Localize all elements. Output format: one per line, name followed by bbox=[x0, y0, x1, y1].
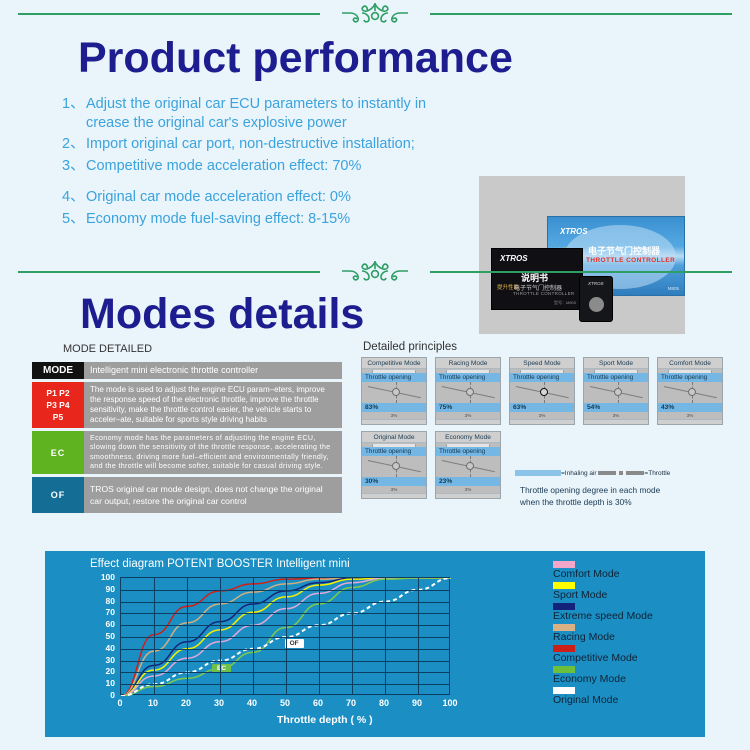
list-item-number: 3、 bbox=[62, 157, 86, 176]
legend-swatch bbox=[553, 624, 575, 631]
card-band-label: Throttle opening bbox=[658, 373, 722, 382]
chart-plot-area: EC OF bbox=[120, 577, 450, 695]
principle-card-original: Original Mode Throttle opening 30% 3% bbox=[361, 431, 427, 499]
legend-swatch-throttle bbox=[598, 471, 644, 475]
legend-swatch-inhaling-air bbox=[515, 470, 561, 476]
chart-x-tick: 50 bbox=[280, 698, 290, 708]
legend-item: Racing Mode bbox=[553, 624, 653, 643]
card-valve-diagram bbox=[436, 456, 500, 477]
list-item-text: Economy mode fuel-saving effect: 8-15% bbox=[86, 210, 350, 229]
principle-card-row: Competitive Mode Throttle opening 83% 3%… bbox=[361, 357, 723, 425]
table-row: EC Economy mode has the parameters of ad… bbox=[32, 431, 342, 474]
mode-desc-cell: The mode is used to adjust the engine EC… bbox=[84, 382, 342, 428]
chart-gridline-v bbox=[418, 578, 419, 694]
legend-swatch bbox=[553, 645, 575, 652]
card-title: Racing Mode bbox=[436, 358, 500, 369]
legend-label: Competitive Mode bbox=[553, 652, 653, 664]
chart-y-tick: 80 bbox=[106, 596, 115, 606]
list-item-number: 5、 bbox=[62, 210, 86, 229]
card-valve-diagram bbox=[362, 456, 426, 477]
legend-label: Sport Mode bbox=[553, 589, 653, 601]
legend-swatch bbox=[553, 666, 575, 673]
chart-gridline-h bbox=[121, 637, 449, 638]
chart-x-tick: 30 bbox=[214, 698, 224, 708]
legend-item: Economy Mode bbox=[553, 666, 653, 685]
chart-x-tick: 20 bbox=[181, 698, 191, 708]
legend-item: Competitive Mode bbox=[553, 645, 653, 664]
card-foot-percent: 3% bbox=[510, 412, 574, 419]
list-item: 2、 Import original car port, non-destruc… bbox=[62, 135, 472, 154]
card-foot-percent: 3% bbox=[362, 486, 426, 493]
ornament-icon bbox=[320, 258, 430, 284]
chart-gridline-v bbox=[220, 578, 221, 694]
list-item: 4、 Original car mode acceleration effect… bbox=[62, 188, 472, 207]
card-title: Comfort Mode bbox=[658, 358, 722, 369]
legend-item: Comfort Mode bbox=[553, 561, 653, 580]
chart-x-tick: 10 bbox=[148, 698, 158, 708]
legend-label: Economy Mode bbox=[553, 673, 653, 685]
list-item-number: 4、 bbox=[62, 188, 86, 207]
list-item-text: Adjust the original car ECU parameters t… bbox=[86, 95, 472, 132]
card-valve-diagram bbox=[436, 382, 500, 403]
legend-swatch bbox=[553, 582, 575, 589]
table-row: OF TROS original car mode design, does n… bbox=[32, 477, 342, 513]
principle-card-comfort: Comfort Mode Throttle opening 43% 3% bbox=[657, 357, 723, 425]
list-item-text: Import original car port, non-destructiv… bbox=[86, 135, 415, 154]
box-title-cn: 电子节气门控制器 bbox=[588, 244, 660, 257]
chart-gridline-h bbox=[121, 590, 449, 591]
manual-sku-label: 型号：M805 bbox=[554, 300, 576, 306]
card-band-label: Throttle opening bbox=[362, 373, 426, 382]
chart-gridline-h bbox=[121, 602, 449, 603]
caption-line-2: when the throttle depth is 30% bbox=[520, 496, 660, 508]
valve-circle-icon bbox=[614, 388, 622, 396]
effect-diagram-chart: Effect diagram POTENT BOOSTER Intelligen… bbox=[45, 551, 705, 737]
chart-y-tick: 50 bbox=[106, 631, 115, 641]
chart-gridline-h bbox=[121, 613, 449, 614]
card-foot-percent: 3% bbox=[436, 412, 500, 419]
detailed-principles-label: Detailed principles bbox=[363, 341, 457, 353]
valve-circle-icon bbox=[540, 388, 548, 396]
mode-key-cell: MODE bbox=[32, 362, 84, 379]
product-performance-section: 1、 Adjust the original car ECU parameter… bbox=[0, 83, 750, 258]
chart-gridline-h bbox=[121, 684, 449, 685]
chart-x-tick: 40 bbox=[247, 698, 257, 708]
page-title-product: Product performance bbox=[78, 34, 750, 83]
chart-gridline-h bbox=[121, 649, 449, 650]
chart-legend: Comfort ModeSport ModeExtreme speed Mode… bbox=[553, 561, 653, 708]
mode-desc-cell: Economy mode has the parameters of adjus… bbox=[84, 431, 342, 474]
legend-item: Extreme speed Mode bbox=[553, 603, 653, 622]
list-item-number: 1、 bbox=[62, 95, 86, 132]
card-band-label: Throttle opening bbox=[436, 447, 500, 456]
chart-x-tick: 90 bbox=[412, 698, 422, 708]
chart-x-tick: 100 bbox=[442, 698, 457, 708]
chart-gridline-v bbox=[319, 578, 320, 694]
legend-label: Extreme speed Mode bbox=[553, 610, 653, 622]
card-valve-diagram bbox=[362, 382, 426, 403]
box-brand-label: XTROS bbox=[560, 227, 588, 236]
card-band-label: Throttle opening bbox=[584, 373, 648, 382]
mode-key-cell: P1 P2 P3 P4 P5 bbox=[32, 382, 84, 428]
principle-card-economy: Economy Mode Throttle opening 23% 3% bbox=[435, 431, 501, 499]
manual-subtitle-en: THROTTLE CONTROLLER bbox=[513, 291, 574, 296]
list-item: 1、 Adjust the original car ECU parameter… bbox=[62, 95, 472, 132]
card-caption: Throttle opening degree in each mode whe… bbox=[520, 484, 660, 508]
chart-gridline-v bbox=[154, 578, 155, 694]
list-item-number: 2、 bbox=[62, 135, 86, 154]
chart-y-tick: 40 bbox=[106, 643, 115, 653]
list-item: 5、 Economy mode fuel-saving effect: 8-15… bbox=[62, 210, 472, 229]
valve-circle-icon bbox=[466, 462, 474, 470]
chart-gridline-h bbox=[121, 672, 449, 673]
modes-details-section: MODE DETAILED Detailed principles MODE I… bbox=[0, 339, 750, 554]
divider-top bbox=[0, 0, 750, 26]
legend-swatch bbox=[553, 687, 575, 694]
card-band-label: Throttle opening bbox=[362, 447, 426, 456]
mode-detailed-label: MODE DETAILED bbox=[63, 343, 152, 355]
card-valve-diagram bbox=[510, 382, 574, 403]
principle-card-grid: Competitive Mode Throttle opening 83% 3%… bbox=[361, 357, 723, 505]
chart-x-tick: 0 bbox=[117, 698, 122, 708]
chart-x-axis-label: Throttle depth ( % ) bbox=[277, 714, 373, 726]
card-band-label: Throttle opening bbox=[436, 373, 500, 382]
list-item-text: Original car mode acceleration effect: 0… bbox=[86, 188, 351, 207]
list-item-text: Competitive mode acceleration effect: 70… bbox=[86, 157, 361, 176]
chart-x-ticks: 0102030405060708090100 bbox=[120, 698, 450, 712]
card-legend: =Inhaling air =Throttle bbox=[515, 470, 670, 477]
chart-x-tick: 70 bbox=[346, 698, 356, 708]
chart-gridline-v bbox=[286, 578, 287, 694]
valve-circle-icon bbox=[392, 462, 400, 470]
mode-desc-cell: TROS original car mode design, does not … bbox=[84, 477, 342, 513]
legend-item: Sport Mode bbox=[553, 582, 653, 601]
chart-y-ticks: 0102030405060708090100 bbox=[93, 577, 118, 695]
product-photo: XTROS 捷豹 电子节气门控制器 THROTTLE CONTROLLER M8… bbox=[479, 176, 685, 334]
valve-circle-icon bbox=[466, 388, 474, 396]
chart-y-tick: 60 bbox=[106, 619, 115, 629]
card-title: Competitive Mode bbox=[362, 358, 426, 369]
chart-y-tick: 10 bbox=[106, 678, 115, 688]
card-foot-percent: 3% bbox=[436, 486, 500, 493]
card-band-label: Throttle opening bbox=[510, 373, 574, 382]
annotation-of: OF bbox=[285, 639, 304, 648]
chart-gridline-v bbox=[385, 578, 386, 694]
device-knob-icon bbox=[589, 297, 604, 312]
ornament-icon bbox=[320, 0, 430, 26]
chart-gridline-v bbox=[187, 578, 188, 694]
principle-card-racing: Racing Mode Throttle opening 75% 3% bbox=[435, 357, 501, 425]
principle-card-sport: Sport Mode Throttle opening 54% 3% bbox=[583, 357, 649, 425]
legend-swatch bbox=[553, 561, 575, 568]
legend-item: Original Mode bbox=[553, 687, 653, 706]
principle-card-speed: Speed Mode Throttle opening 63% 3% bbox=[509, 357, 575, 425]
chart-y-tick: 30 bbox=[106, 655, 115, 665]
table-row: P1 P2 P3 P4 P5 The mode is used to adjus… bbox=[32, 382, 342, 428]
chart-gridline-h bbox=[121, 625, 449, 626]
principle-card-competitive: Competitive Mode Throttle opening 83% 3% bbox=[361, 357, 427, 425]
chart-y-tick: 20 bbox=[106, 666, 115, 676]
card-title: Speed Mode bbox=[510, 358, 574, 369]
mode-detail-table: MODE Intelligent mini electronic throttl… bbox=[32, 362, 342, 516]
legend-label-inhaling-air: =Inhaling air bbox=[561, 470, 597, 477]
chart-gridline-h bbox=[121, 661, 449, 662]
card-foot-percent: 3% bbox=[362, 412, 426, 419]
valve-circle-icon bbox=[392, 388, 400, 396]
legend-swatch bbox=[553, 603, 575, 610]
chart-gridline-v bbox=[352, 578, 353, 694]
chart-y-tick: 0 bbox=[110, 690, 115, 700]
card-foot-percent: 3% bbox=[658, 412, 722, 419]
card-title: Economy Mode bbox=[436, 432, 500, 443]
chart-x-tick: 80 bbox=[379, 698, 389, 708]
chart-y-tick: 70 bbox=[106, 607, 115, 617]
legend-label: Racing Mode bbox=[553, 631, 653, 643]
chart-x-tick: 60 bbox=[313, 698, 323, 708]
caption-line-1: Throttle opening degree in each mode bbox=[520, 484, 660, 496]
card-title: Sport Mode bbox=[584, 358, 648, 369]
list-item: 3、 Competitive mode acceleration effect:… bbox=[62, 157, 472, 176]
chart-gridline-v bbox=[253, 578, 254, 694]
legend-label-throttle: =Throttle bbox=[644, 470, 670, 477]
chart-title: Effect diagram POTENT BOOSTER Intelligen… bbox=[90, 558, 350, 570]
legend-label: Comfort Mode bbox=[553, 568, 653, 580]
table-row: MODE Intelligent mini electronic throttl… bbox=[32, 362, 342, 379]
chart-y-tick: 90 bbox=[106, 584, 115, 594]
mode-key-cell: OF bbox=[32, 477, 84, 513]
divider-modes bbox=[0, 258, 750, 284]
chart-y-tick: 100 bbox=[101, 572, 115, 582]
product-benefits-list: 1、 Adjust the original car ECU parameter… bbox=[62, 95, 472, 231]
card-valve-diagram bbox=[658, 382, 722, 403]
card-title: Original Mode bbox=[362, 432, 426, 443]
legend-label: Original Mode bbox=[553, 694, 653, 706]
card-valve-diagram bbox=[584, 382, 648, 403]
mode-desc-cell: Intelligent mini electronic throttle con… bbox=[84, 362, 342, 379]
valve-circle-icon bbox=[688, 388, 696, 396]
card-foot-percent: 3% bbox=[584, 412, 648, 419]
mode-key-cell: EC bbox=[32, 431, 84, 474]
box-sku-label: M805 bbox=[668, 286, 679, 291]
